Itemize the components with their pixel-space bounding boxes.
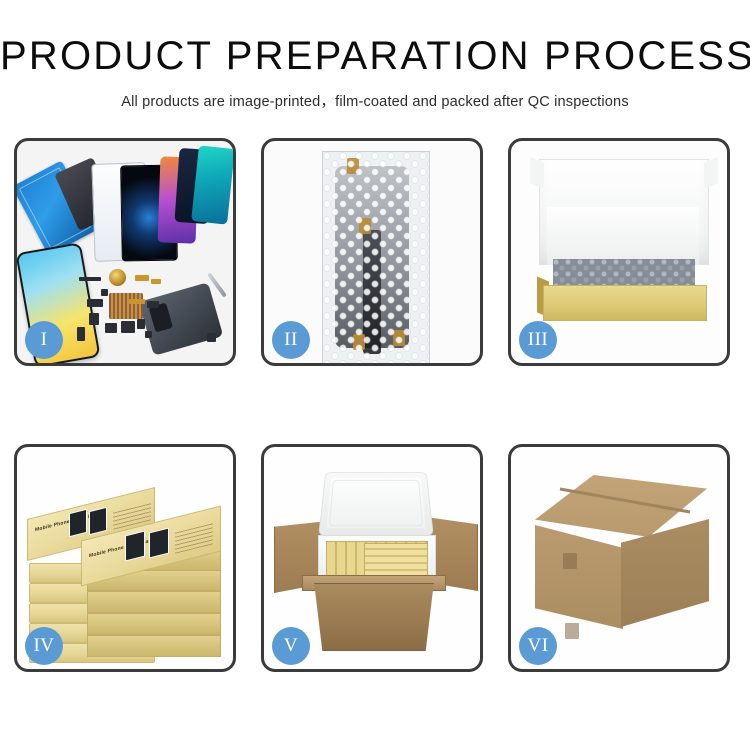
box-window-image <box>125 531 145 562</box>
retail-boxes-in-foam <box>364 543 428 577</box>
step-badge-1: I <box>25 321 63 359</box>
step-badge-3: III <box>519 321 557 359</box>
foam-liner-graphic <box>547 207 699 265</box>
part-chip <box>135 275 149 281</box>
part-chip <box>89 313 99 325</box>
box-window-image <box>149 528 169 559</box>
process-step-card-6[interactable]: VI <box>508 444 730 672</box>
step-badge-2: II <box>272 321 310 359</box>
phone-back-shell-graphic <box>139 282 224 356</box>
page-subtitle: All products are image-printed，film-coat… <box>0 90 750 111</box>
part-chip <box>105 323 117 333</box>
stacked-box <box>87 635 221 657</box>
part-chip <box>207 333 216 342</box>
carton-right-face <box>621 519 709 627</box>
foam-box-lid <box>318 472 434 536</box>
part-chip <box>147 301 159 308</box>
process-step-card-4[interactable]: Mobile Phone Spare Parts Mobile Phone Sp… <box>14 444 236 672</box>
part-chip <box>121 321 135 333</box>
carton-left-face <box>535 525 623 629</box>
speaker-coil-part <box>109 269 126 286</box>
kraft-box-front-graphic <box>543 285 707 321</box>
box-window-image <box>89 507 107 535</box>
stacked-box <box>87 613 221 635</box>
bubble-texture <box>323 152 429 363</box>
bubble-wrap-bag-graphic <box>322 151 430 363</box>
carton-handle-tab <box>563 553 577 569</box>
process-step-card-3[interactable]: III <box>508 138 730 366</box>
carton-handle-tab <box>565 623 579 639</box>
step-badge-4: IV <box>25 627 63 665</box>
process-step-grid: I II III <box>14 138 736 672</box>
stacked-box <box>87 591 221 613</box>
box-window-image <box>69 509 87 537</box>
bubble-wrapped-contents-graphic <box>553 259 695 287</box>
part-chip <box>101 289 108 296</box>
part-chip <box>77 327 85 341</box>
process-step-card-1[interactable]: I <box>14 138 236 366</box>
process-step-card-5[interactable]: V <box>261 444 483 672</box>
step-badge-6: VI <box>519 627 557 665</box>
step-badge-5: V <box>272 627 310 665</box>
carton-body <box>306 583 442 651</box>
part-chip <box>87 299 103 307</box>
part-chip <box>145 331 152 338</box>
teal-phone-graphic <box>191 145 233 224</box>
process-step-card-2[interactable]: II <box>261 138 483 366</box>
part-chip <box>137 319 145 329</box>
part-chip <box>151 279 161 284</box>
page-header: PRODUCT PREPARATION PROCESS All products… <box>0 0 750 111</box>
circuit-board-part <box>109 293 143 319</box>
part-chip <box>79 277 101 281</box>
page-title: PRODUCT PREPARATION PROCESS <box>0 36 750 76</box>
part-chip <box>129 299 145 304</box>
